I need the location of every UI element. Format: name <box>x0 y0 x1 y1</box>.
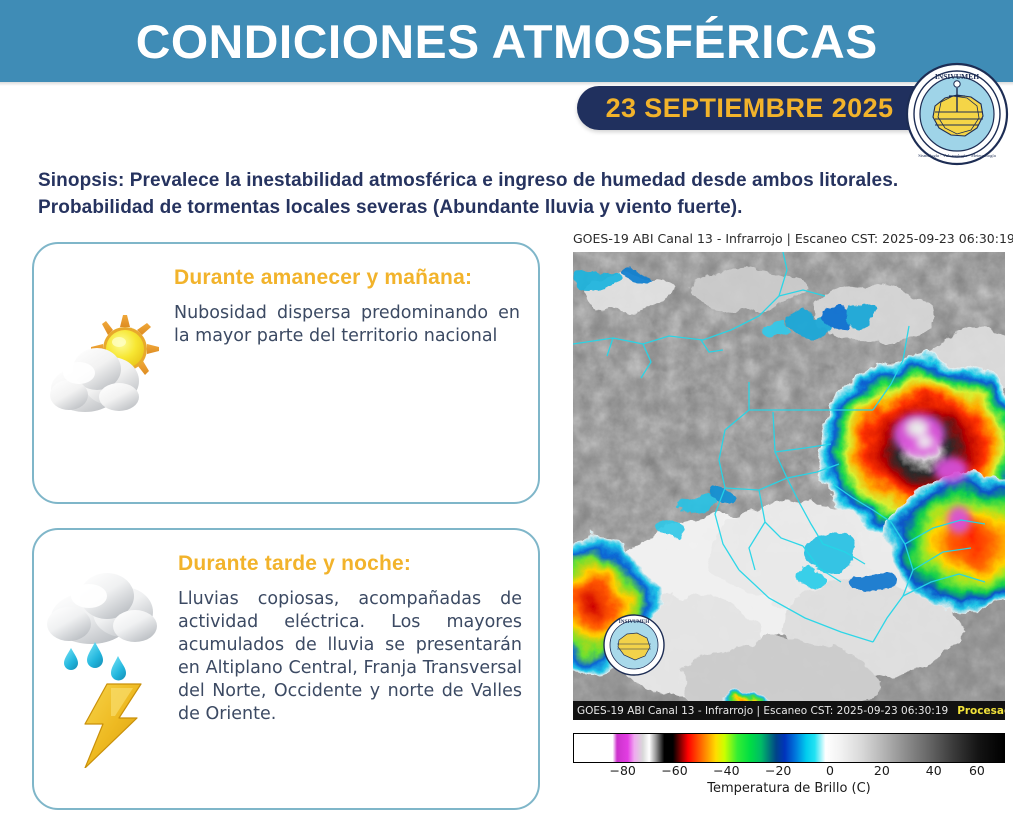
insivumeh-logo: INSIVUMEH Sismología · Vulcanología · Me… <box>905 62 1009 166</box>
satellite-caption-top: GOES-19 ABI Canal 13 - Infrarrojo | Esca… <box>573 231 1005 246</box>
forecast-card-morning-text: Nubosidad dispersa predominando en la ma… <box>174 302 520 348</box>
svg-text:Sismología · Vulcanología · Me: Sismología · Vulcanología · Meteorología <box>918 153 995 158</box>
colorbar: −80−60−40−200204060 Temperatura de Brill… <box>573 733 1005 796</box>
forecast-card-evening-heading: Durante tarde y noche: <box>178 552 522 576</box>
header-band: CONDICIONES ATMOSFÉRICAS <box>0 0 1013 82</box>
forecast-card-morning-body: Durante amanecer y mañana: Nubosidad dis… <box>174 266 520 348</box>
satellite-credit: Procesado por Joel Ixcamparij <box>957 705 1005 717</box>
colorbar-tick-label: −20 <box>765 763 791 778</box>
colorbar-tick-label: −80 <box>609 763 635 778</box>
colorbar-gradient <box>573 733 1005 763</box>
date-badge-label: 23 SEPTIEMBRE 2025 <box>606 93 894 124</box>
colorbar-tick-label: −40 <box>713 763 739 778</box>
sun-behind-cloud-icon <box>48 306 178 426</box>
satellite-caption-bottom-bar: GOES-19 ABI Canal 13 - Infrarrojo | Esca… <box>573 701 1005 720</box>
forecast-card-evening: Durante tarde y noche: Lluvias copiosas,… <box>32 528 540 810</box>
satellite-image: INSIVUMEH GOES-19 ABI Canal 13 - Infrarr… <box>573 252 1005 720</box>
colorbar-tick-label: −60 <box>661 763 687 778</box>
forecast-card-morning-heading: Durante amanecer y mañana: <box>174 266 520 290</box>
colorbar-ticks: −80−60−40−200204060 <box>573 763 1005 780</box>
colorbar-tick-label: 40 <box>926 763 942 778</box>
page-title: CONDICIONES ATMOSFÉRICAS <box>135 14 877 69</box>
colorbar-tick-label: 0 <box>826 763 834 778</box>
synopsis-text: Sinopsis: Prevalece la inestabilidad atm… <box>38 168 938 222</box>
svg-text:INSIVUMEH: INSIVUMEH <box>935 72 979 81</box>
svg-text:INSIVUMEH: INSIVUMEH <box>619 619 650 625</box>
forecast-card-morning: Durante amanecer y mañana: Nubosidad dis… <box>32 242 540 504</box>
forecast-card-evening-text: Lluvias copiosas, acompañadas de activid… <box>178 588 522 727</box>
colorbar-tick-label: 20 <box>874 763 890 778</box>
thunderstorm-rain-icon <box>44 554 184 769</box>
colorbar-label: Temperatura de Brillo (C) <box>573 781 1005 796</box>
satellite-caption-bottom: GOES-19 ABI Canal 13 - Infrarrojo | Esca… <box>577 705 948 717</box>
date-badge: 23 SEPTIEMBRE 2025 <box>577 86 922 130</box>
colorbar-tick-label: 60 <box>969 763 985 778</box>
forecast-card-evening-body: Durante tarde y noche: Lluvias copiosas,… <box>178 552 522 727</box>
